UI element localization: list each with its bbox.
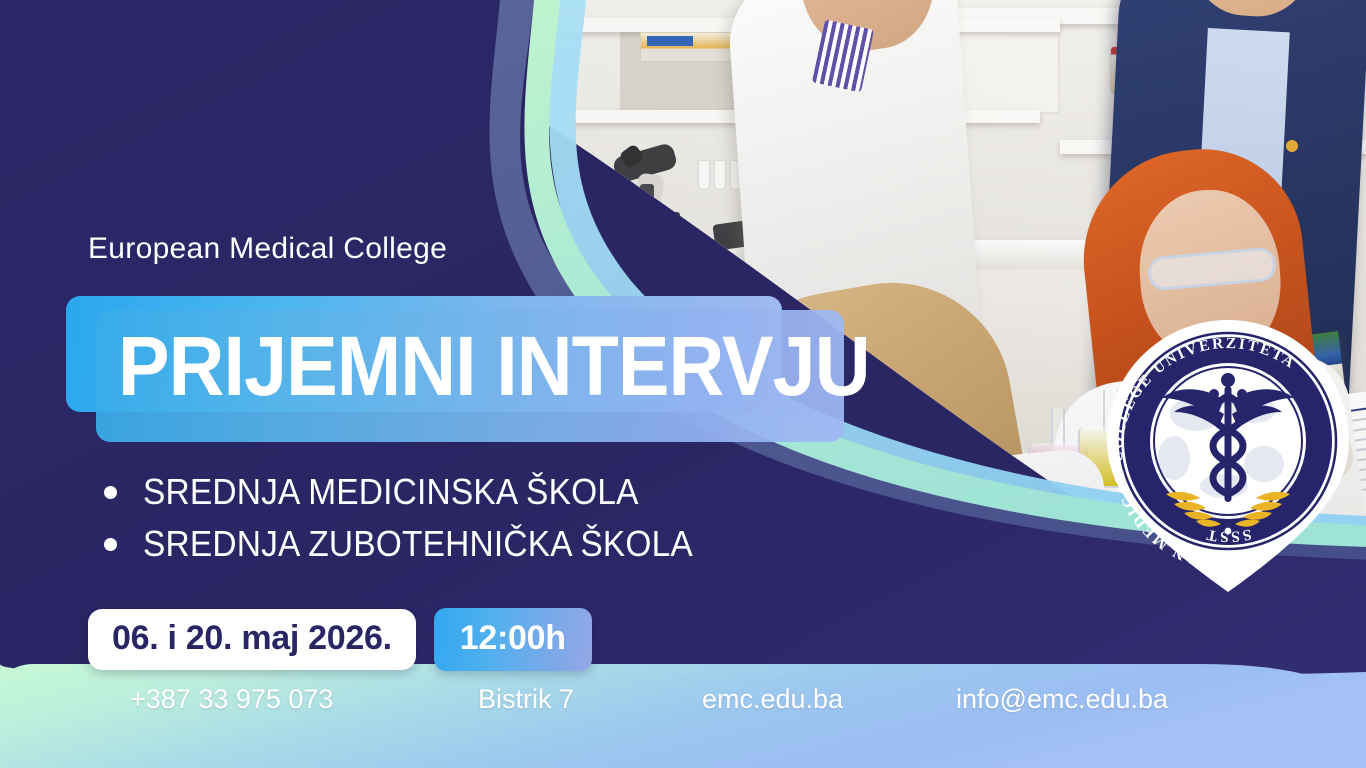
time-badge: 12:00h xyxy=(434,608,592,671)
list-item: SREDNJA ZUBOTEHNIČKA ŠKOLA xyxy=(104,522,804,566)
date-badge: 06. i 20. maj 2026. xyxy=(88,609,416,670)
contact-phone[interactable]: +387 33 975 073 xyxy=(130,684,333,715)
ring-dot xyxy=(1225,528,1232,535)
contact-strip: +387 33 975 073 Bistrik 7 emc.edu.ba inf… xyxy=(0,684,1366,728)
bullet-icon xyxy=(104,538,117,551)
bullet-icon xyxy=(104,486,117,499)
list-item: SREDNJA MEDICINSKA ŠKOLA xyxy=(104,470,804,514)
logo-pin: EUROPEAN MEDICAL COLLEGE UNIVERZITETA SS… xyxy=(1104,318,1352,594)
contact-address[interactable]: Bistrik 7 xyxy=(478,684,574,715)
program-label: SREDNJA MEDICINSKA ŠKOLA xyxy=(143,470,639,514)
programs-list: SREDNJA MEDICINSKA ŠKOLA SREDNJA ZUBOTEH… xyxy=(104,470,804,574)
schedule-badges: 06. i 20. maj 2026. 12:00h xyxy=(88,608,592,671)
page-title: PRIJEMNI INTERVJU xyxy=(118,324,817,408)
promotional-banner: European Medical College PRIJEMNI INTERV… xyxy=(0,0,1366,768)
program-label: SREDNJA ZUBOTEHNIČKA ŠKOLA xyxy=(143,522,693,566)
contact-email[interactable]: info@emc.edu.ba xyxy=(956,684,1168,715)
contact-website[interactable]: emc.edu.ba xyxy=(702,684,843,715)
page-eyebrow: European Medical College xyxy=(88,232,447,266)
headline-block: PRIJEMNI INTERVJU xyxy=(66,296,826,448)
